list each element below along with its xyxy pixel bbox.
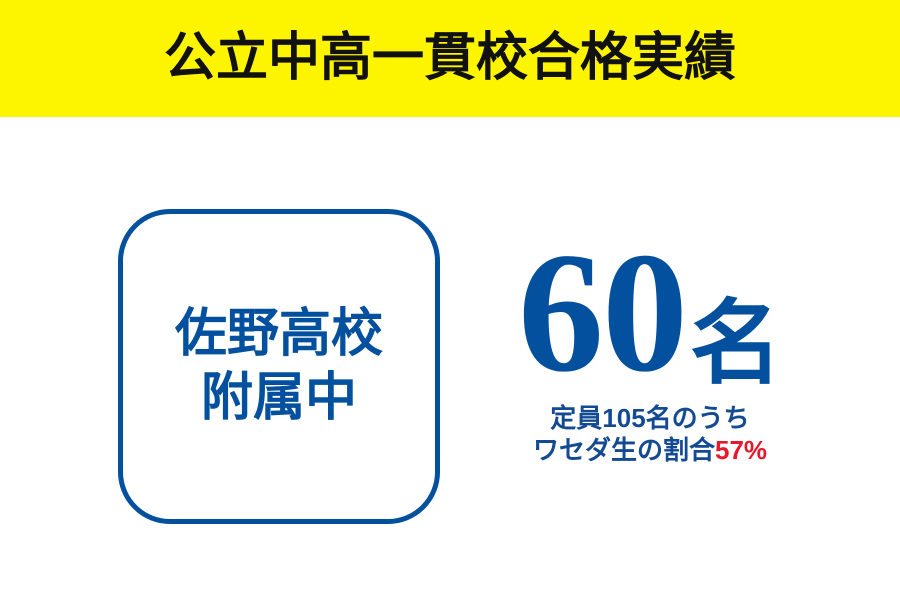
- pass-count-number: 60: [518, 227, 686, 399]
- pass-count-unit: 名: [690, 298, 782, 390]
- school-name-line-1: 佐野高校: [175, 303, 383, 366]
- header-banner: 公立中高一貫校合格実績: [0, 0, 900, 117]
- capacity-note-line-1: 定員105名のうち: [533, 403, 767, 435]
- pass-count-row: 60 名: [518, 227, 782, 377]
- waseda-share-percent: 57%: [715, 435, 767, 465]
- capacity-note: 定員105名のうち ワセダ生の割合57%: [533, 403, 767, 466]
- result-block: 60 名 定員105名のうち ワセダ生の割合57%: [470, 227, 830, 466]
- main-content: 佐野高校 附属中 60 名 定員105名のうち ワセダ生の割合57%: [0, 117, 900, 612]
- school-name-card: 佐野高校 附属中: [118, 209, 440, 524]
- page-title: 公立中高一貫校合格実績: [164, 32, 736, 84]
- capacity-note-line-2: ワセダ生の割合57%: [533, 435, 767, 467]
- capacity-note-line-2-prefix: ワセダ生の割合: [533, 435, 715, 465]
- school-name-line-2: 附属中: [201, 367, 357, 430]
